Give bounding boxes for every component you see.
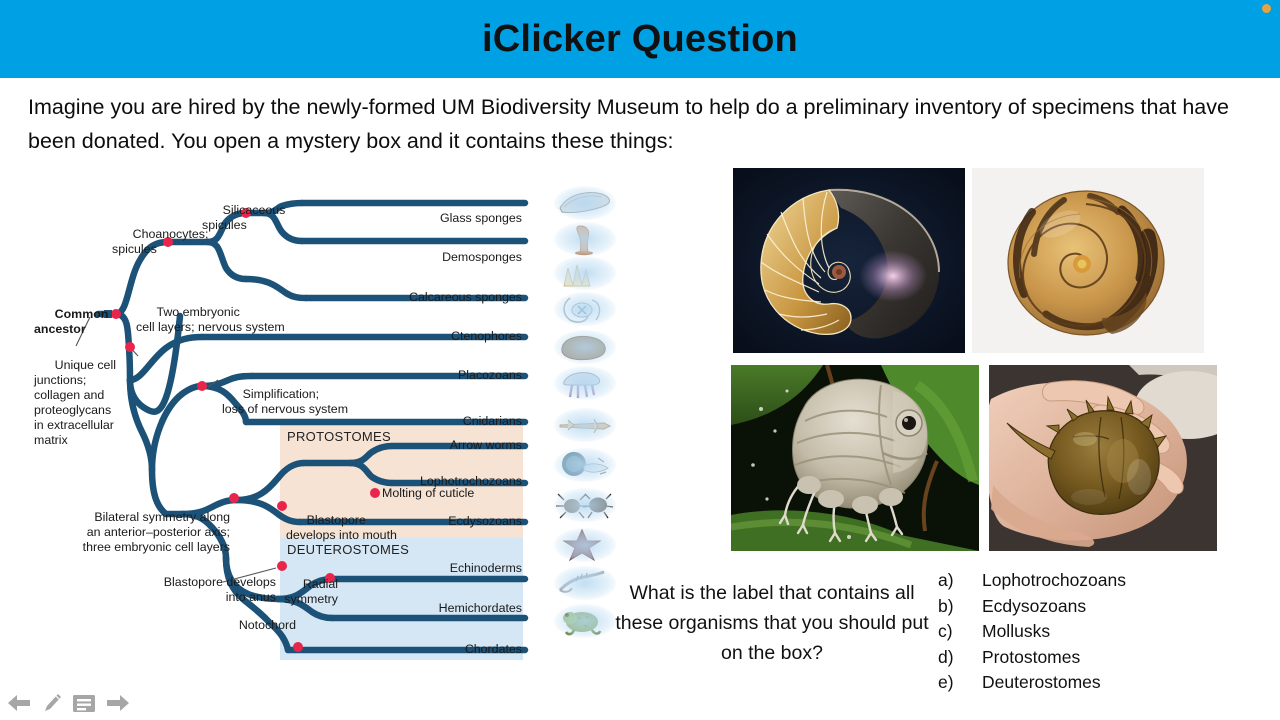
answer-option-b[interactable]: b) Ecdysozoans — [938, 594, 1268, 620]
demosponge-icon — [554, 222, 616, 256]
calcareous-sponge-icon — [554, 256, 616, 290]
echinoderm-icon — [554, 528, 616, 562]
chordate-icon — [554, 604, 616, 638]
intro-paragraph: Imagine you are hired by the newly-forme… — [28, 90, 1253, 158]
label-choanocytes: Choanocytes;spicules — [112, 212, 208, 272]
answer-key-c: c) — [938, 619, 982, 645]
answer-label-d: Protostomes — [982, 645, 1080, 671]
answer-key-b: b) — [938, 594, 982, 620]
taxon-label-chordates: Chordates — [322, 642, 522, 657]
taxon-label-glass-sponges: Glass sponges — [322, 211, 522, 226]
slide-canvas: iClicker Question Imagine you are hired … — [0, 0, 1280, 720]
horseshoe-crab-photo — [989, 365, 1217, 551]
corner-marker-dot — [1262, 4, 1271, 13]
node-dot-molting — [370, 488, 380, 498]
answer-option-d[interactable]: d) Protostomes — [938, 645, 1268, 671]
glass-sponge-icon — [554, 186, 616, 220]
label-notochord: Notochord — [198, 618, 296, 633]
pen-annotate-tool[interactable] — [41, 692, 63, 714]
node-dot-simplification — [197, 381, 207, 391]
node-dot-notochord — [293, 642, 303, 652]
answer-key-d: d) — [938, 645, 982, 671]
answer-label-a: Lophotrochozoans — [982, 568, 1126, 594]
hemichordate-icon — [554, 566, 616, 600]
next-slide-arrow[interactable] — [105, 693, 131, 713]
label-two-embryonic-layers: Two embryoniccell layers; nervous system — [136, 290, 285, 350]
taxon-label-cnidarians: Cnidarians — [322, 414, 522, 429]
notes-icon — [72, 694, 96, 713]
label-silicaceous-spicules: Silicaceousspicules — [202, 188, 285, 248]
label-bilateral-symmetry: Bilateral symmetry alongan anterior–post… — [68, 495, 230, 570]
nautilus-shell-photo — [733, 168, 965, 353]
label-deuterostomes-group: DEUTEROSTOMES — [287, 542, 409, 557]
answer-option-e[interactable]: e) Deuterostomes — [938, 670, 1268, 696]
label-radial-symmetry: Radialsymmetry — [220, 562, 338, 622]
phylogenetic-tree-figure: .br { fill:none; stroke:#1c5278; stroke-… — [30, 180, 600, 665]
ecdysozoan-icon — [554, 488, 616, 522]
arrow-right-icon — [105, 693, 131, 713]
taxon-label-hemichordates: Hemichordates — [322, 601, 522, 616]
arrow-worm-icon — [554, 408, 616, 442]
previous-slide-arrow[interactable] — [6, 693, 32, 713]
taxon-label-calcareous-sponges: Calcareous sponges — [322, 290, 522, 305]
taxon-label-echinoderms: Echinoderms — [322, 561, 522, 576]
node-dot-bilateral-symmetry — [229, 493, 239, 503]
page-title: iClicker Question — [0, 18, 1280, 61]
taxon-label-lophotrochozoans: Lophotrochozoans — [322, 474, 522, 489]
answer-key-e: e) — [938, 670, 982, 696]
answer-label-c: Mollusks — [982, 619, 1050, 645]
question-prompt: What is the label that contains all thes… — [612, 578, 932, 668]
snail-shell-photo — [972, 168, 1204, 353]
taxon-label-arrow-worms: Arrow worms — [322, 438, 522, 453]
ctenophore-icon — [554, 292, 616, 326]
answer-key-a: a) — [938, 568, 982, 594]
answer-option-c[interactable]: c) Mollusks — [938, 619, 1268, 645]
taxon-label-placozoans: Placozoans — [322, 368, 522, 383]
answer-option-a[interactable]: a) Lophotrochozoans — [938, 568, 1268, 594]
notes-panel-button[interactable] — [72, 694, 96, 713]
answer-label-e: Deuterostomes — [982, 670, 1101, 696]
pen-icon — [41, 692, 63, 714]
answer-label-b: Ecdysozoans — [982, 594, 1086, 620]
answer-options-list: a) Lophotrochozoans b) Ecdysozoans c) Mo… — [938, 568, 1268, 696]
node-dot-two-embryonic — [125, 342, 135, 352]
taxon-label-ctenophores: Ctenophores — [322, 329, 522, 344]
placozoan-icon — [554, 330, 616, 364]
lophotrochozoan-icon — [554, 448, 616, 482]
tardigrade-photo — [731, 365, 979, 551]
node-dot-common-ancestor — [111, 309, 121, 319]
taxon-label-demosponges: Demosponges — [322, 250, 522, 265]
taxon-label-ecdysozoans: Ecdysozoans — [322, 514, 522, 529]
cnidarian-icon — [554, 366, 616, 400]
slideshow-nav-toolbar — [6, 690, 136, 716]
label-unique-cell-junctions: Unique celljunctions;collagen andproteog… — [34, 343, 120, 463]
arrow-left-icon — [6, 693, 32, 713]
